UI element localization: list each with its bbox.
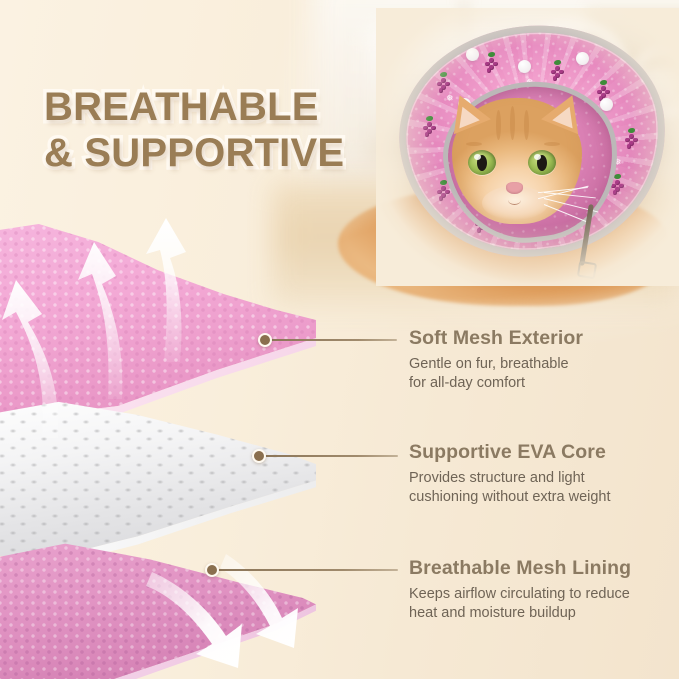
cat-forehead-stripe xyxy=(524,110,529,140)
cat-forehead-stripe xyxy=(510,106,515,140)
layer-mesh-lining xyxy=(0,534,316,679)
feature-title: Supportive EVA Core xyxy=(409,441,679,464)
feature-description: Gentle on fur, breathable for all-day co… xyxy=(409,355,679,393)
cat-nose xyxy=(506,182,523,194)
cat-forehead-stripe xyxy=(496,110,501,140)
connector-dot xyxy=(252,449,266,463)
page-title: BREATHABLE & SUPPORTIVE xyxy=(44,84,344,176)
cat-product-photo: ❅ ❅ ❅ ❅ xyxy=(386,18,679,280)
material-layer-diagram xyxy=(0,214,316,676)
cat-cheek-stripe xyxy=(544,142,560,146)
cat-eye-right xyxy=(528,150,556,175)
feature-description: Keeps airflow circulating to reduce heat… xyxy=(409,585,679,623)
feature-title: Breathable Mesh Lining xyxy=(409,557,679,580)
feature-callout-eva-core: Supportive EVA Core Provides structure a… xyxy=(409,441,679,507)
feature-callout-mesh-lining: Breathable Mesh Lining Keeps airflow cir… xyxy=(409,557,679,623)
feature-callout-soft-mesh-exterior: Soft Mesh Exterior Gentle on fur, breath… xyxy=(409,327,679,393)
connector-dot xyxy=(205,563,219,577)
cat-mouth xyxy=(508,195,521,205)
cat-eye-left xyxy=(468,150,496,175)
connector-dot xyxy=(258,333,272,347)
layer-soft-mesh-exterior xyxy=(0,214,316,414)
connector-mesh-lining xyxy=(205,563,404,577)
connector-soft-mesh-exterior xyxy=(258,333,403,347)
connector-eva-core xyxy=(252,449,404,463)
feature-description: Provides structure and light cushioning … xyxy=(409,469,679,507)
feature-title: Soft Mesh Exterior xyxy=(409,327,679,350)
cone-buckle xyxy=(577,261,597,280)
product-infographic: ❅ ❅ ❅ ❅ xyxy=(0,0,679,679)
cat-head xyxy=(444,88,590,230)
cat-cheek-stripe xyxy=(466,142,482,146)
